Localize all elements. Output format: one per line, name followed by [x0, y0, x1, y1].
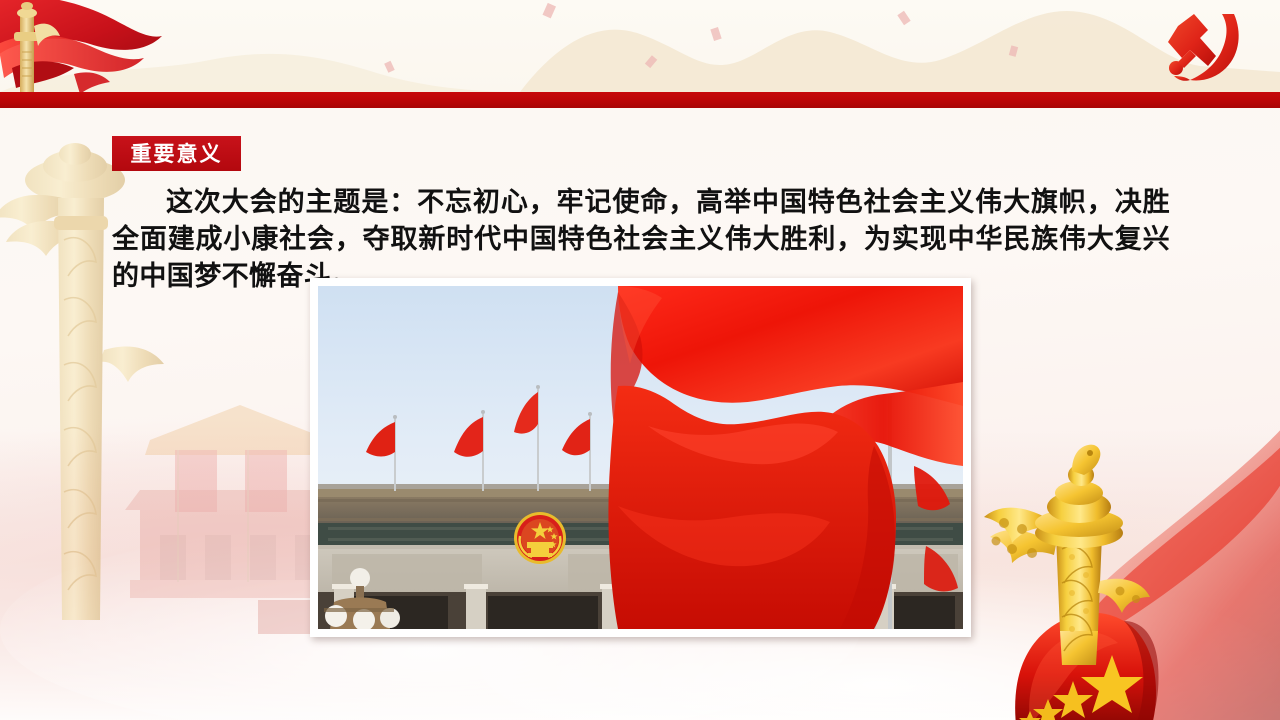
photo-frame[interactable] — [310, 278, 971, 637]
golden-huabiao-decoration — [960, 425, 1280, 720]
header-divider-bar — [0, 92, 1280, 108]
red-flag-torch-decoration — [0, 0, 194, 92]
section-badge: 重要意义 — [112, 136, 241, 171]
national-emblem — [514, 512, 566, 564]
photo-content — [318, 286, 963, 629]
photo-great-hall-red-flags — [318, 286, 963, 629]
slide-root: 重要意义 这次大会的主题是：不忘初心，牢记使命，高举中国特色社会主义伟大旗帜，决… — [0, 0, 1280, 720]
header-band — [0, 0, 1280, 92]
cpc-hammer-sickle-emblem — [1160, 8, 1252, 88]
